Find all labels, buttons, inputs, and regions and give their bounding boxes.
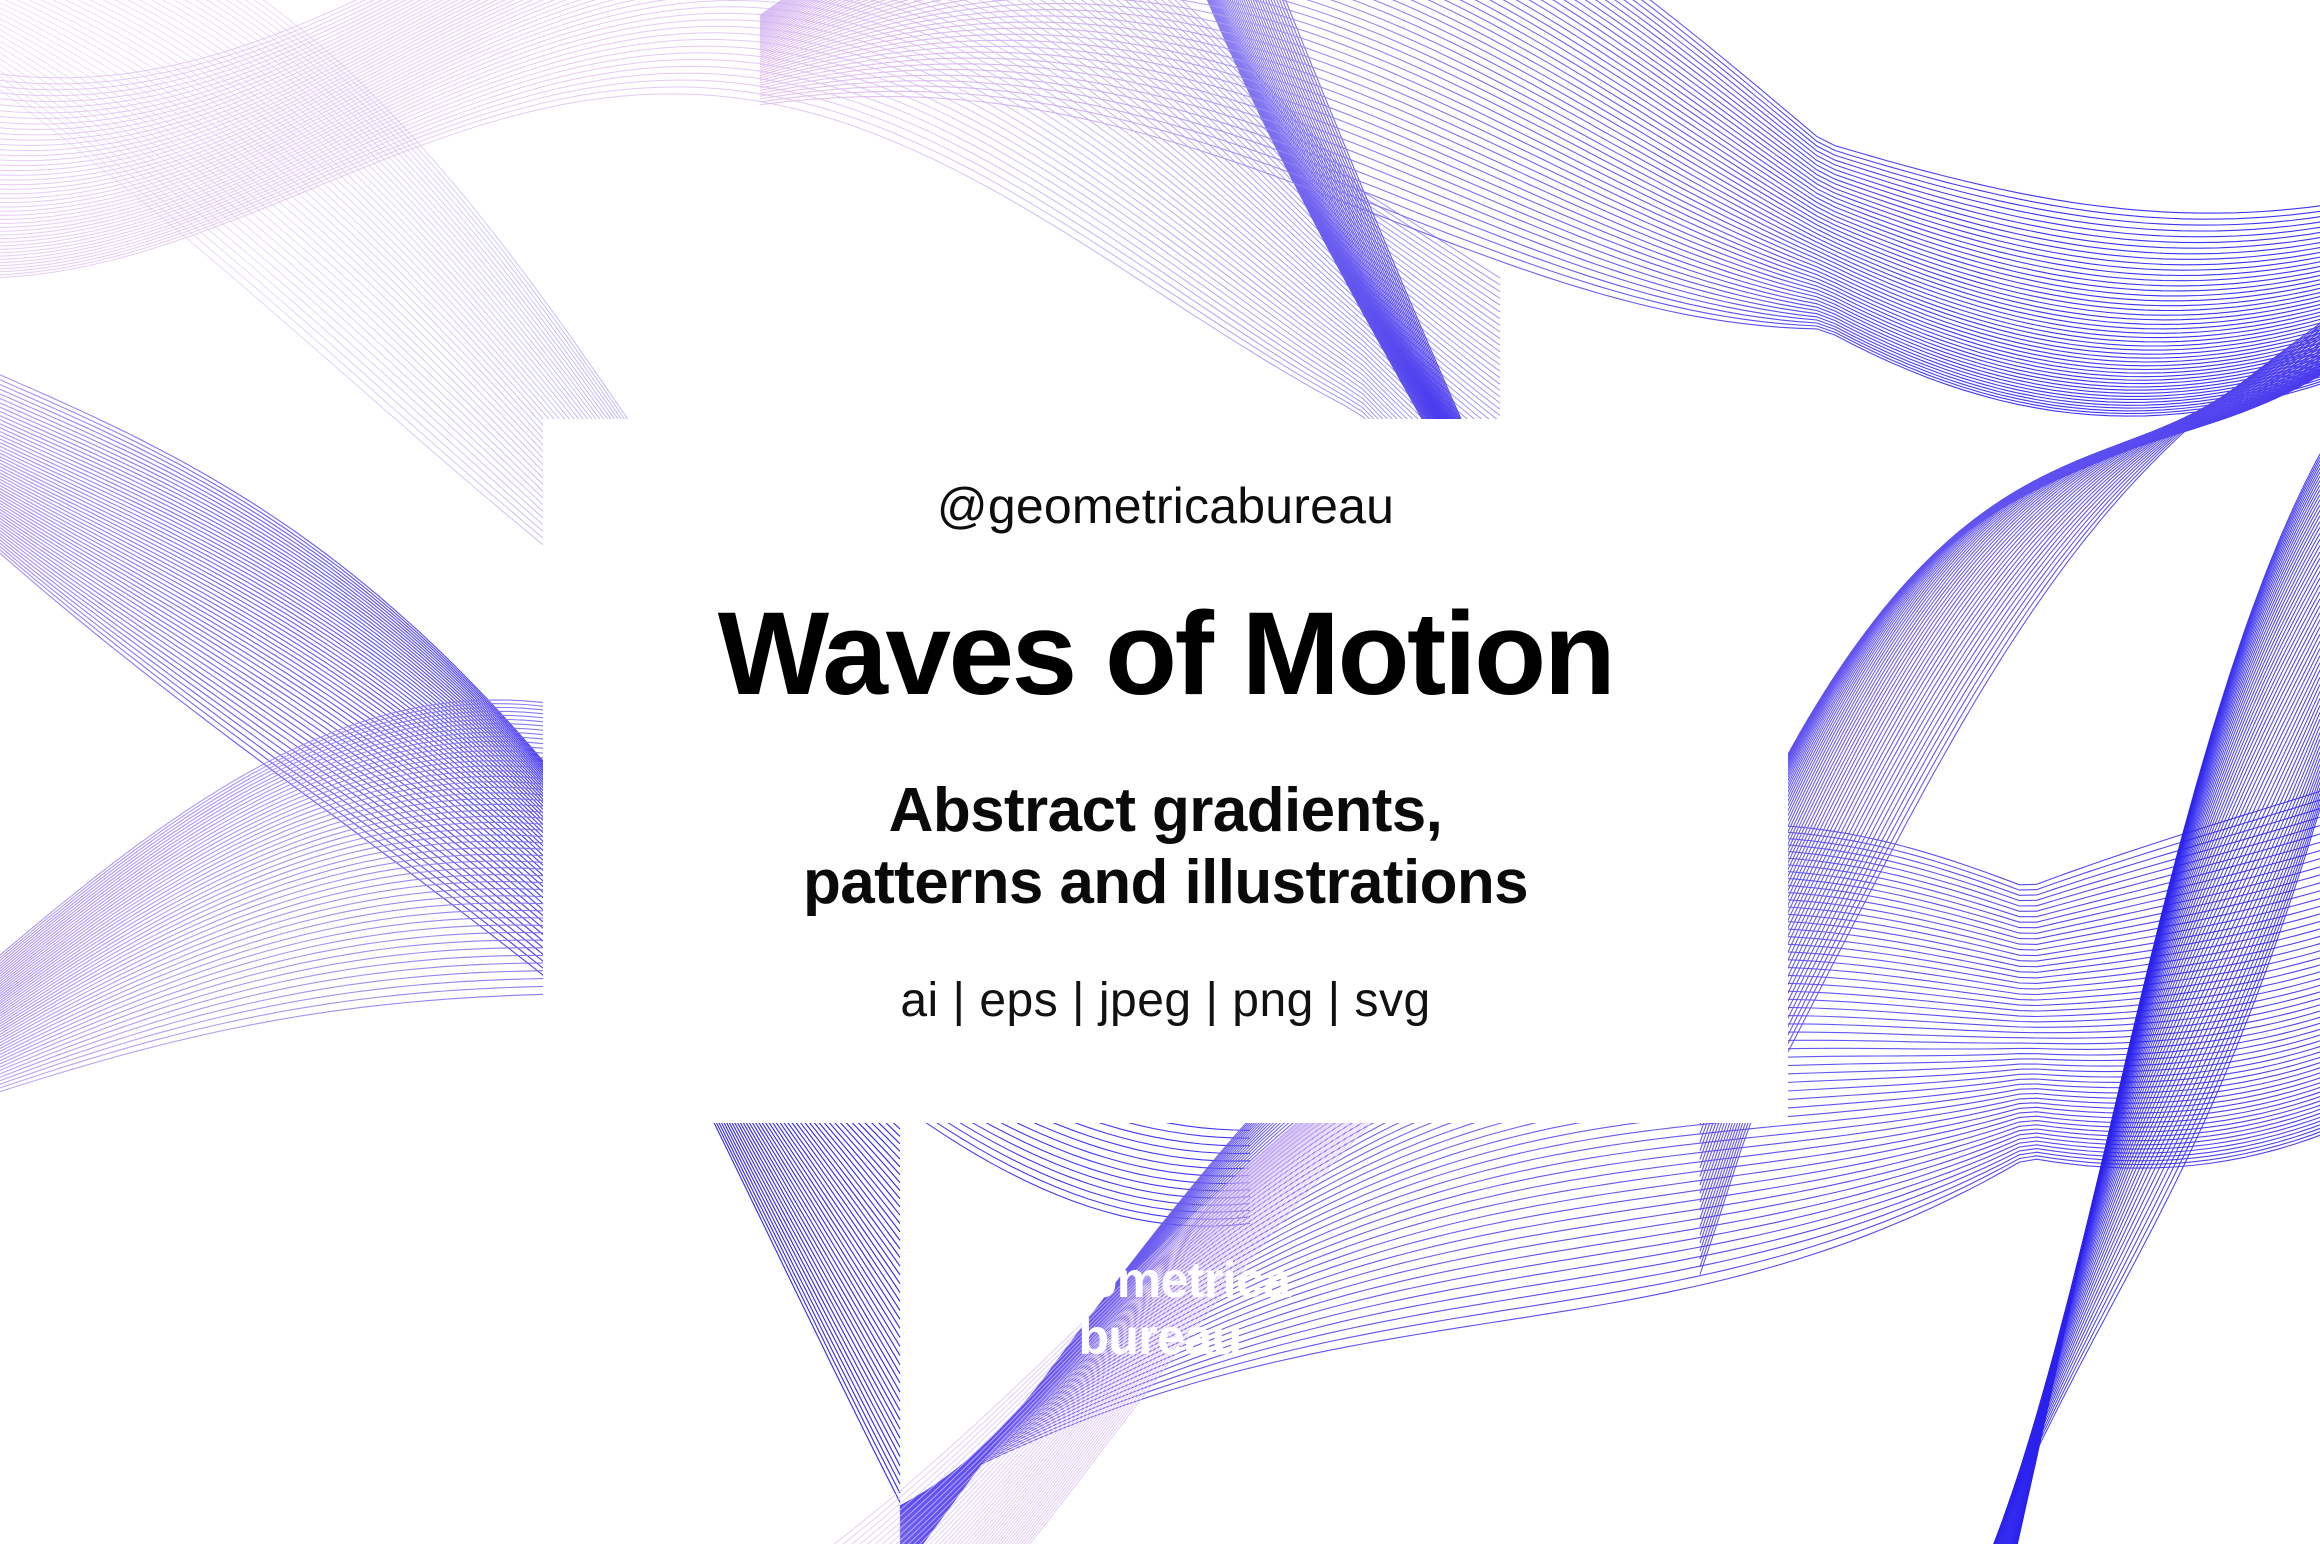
subtitle-line-1: Abstract gradients,	[889, 776, 1443, 845]
brand-logo: geometrica bureau	[0, 1252, 2320, 1366]
page-title: Waves of Motion	[718, 595, 1614, 713]
subtitle: Abstract gradients, patterns and illustr…	[803, 775, 1528, 919]
file-formats-list: ai | eps | jpeg | png | svg	[900, 977, 1430, 1025]
content-card: @geometricabureau Waves of Motion Abstra…	[543, 419, 1788, 1123]
brand-logo-line-2: bureau	[0, 1309, 2320, 1366]
poster-canvas: @geometricabureau Waves of Motion Abstra…	[0, 0, 2320, 1544]
brand-logo-line-1: geometrica	[1030, 1252, 1291, 1308]
subtitle-line-2: patterns and illustrations	[803, 848, 1528, 917]
social-handle: @geometricabureau	[937, 481, 1394, 531]
